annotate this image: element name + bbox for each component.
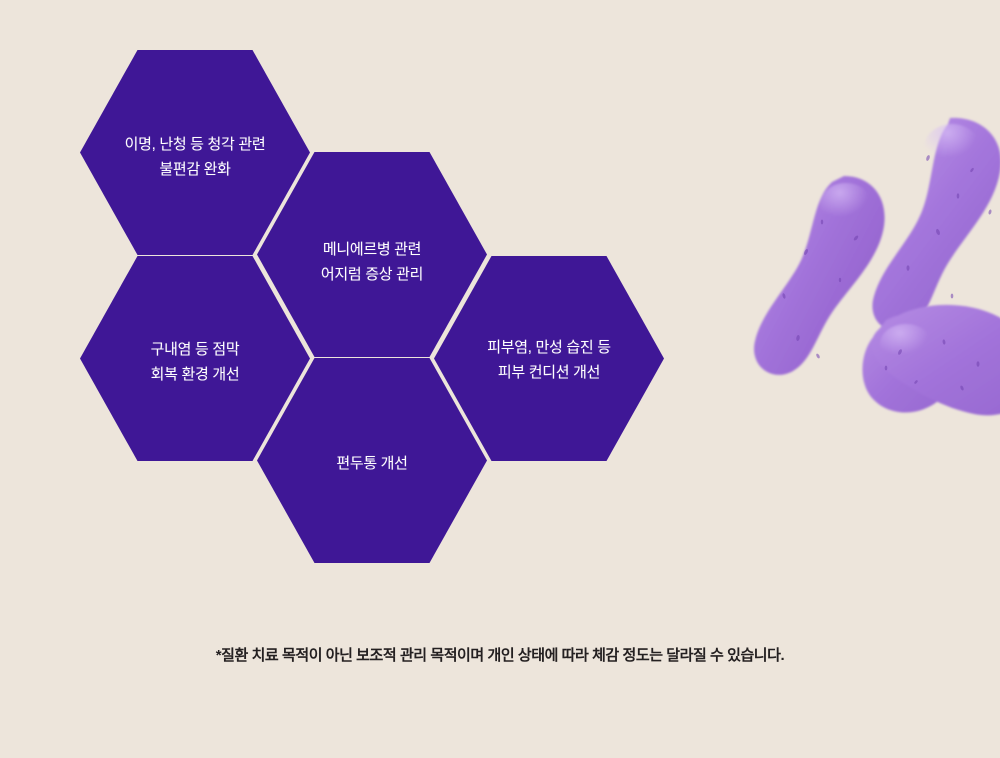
hex-cell-hearing-label: 이명, 난청 등 청각 관련 불편감 완화: [111, 133, 280, 183]
disclaimer-footnote: *질환 치료 목적이 아닌 보조적 관리 목적이며 개인 상태에 따라 체감 정…: [0, 645, 1000, 666]
hex-cell-mucosa-label: 구내염 등 점막 회복 환경 개선: [137, 338, 254, 388]
hex-cell-skin-label: 피부염, 만성 습진 등 피부 컨디션 개선: [473, 336, 624, 386]
infographic-canvas: 이명, 난청 등 청각 관련 불편감 완화 메니에르병 관련 어지럼 증상 관리…: [0, 0, 1000, 758]
hex-cell-migraine-label: 편두통 개선: [322, 452, 421, 477]
hex-cell-meniere-label: 메니에르병 관련 어지럼 증상 관리: [307, 238, 437, 288]
